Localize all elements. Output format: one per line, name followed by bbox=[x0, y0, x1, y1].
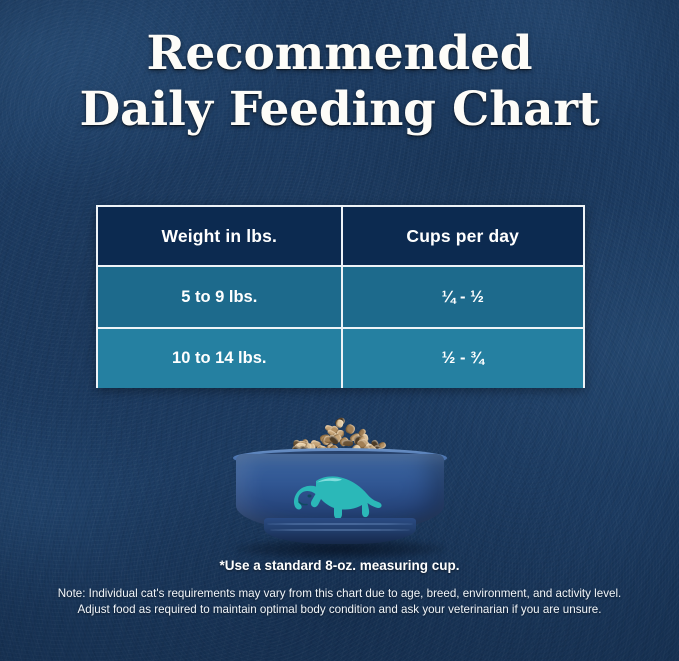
footnotes: *Use a standard 8-oz. measuring cup. Not… bbox=[0, 556, 679, 617]
title-line-1: Recommended bbox=[0, 26, 679, 82]
page-title: Recommended Daily Feeding Chart bbox=[0, 26, 679, 138]
cell-cups-row-2: ½ - ¾ bbox=[341, 329, 584, 388]
cell-cups-row-1: ¼ - ½ bbox=[341, 267, 584, 327]
table-header-row: Weight in lbs. Cups per day bbox=[98, 207, 583, 265]
disclaimer-note: Note: Individual cat's requirements may … bbox=[0, 586, 679, 617]
disclaimer-line-2: Adjust food as required to maintain opti… bbox=[0, 602, 679, 618]
feeding-chart-table: Weight in lbs. Cups per day 5 to 9 lbs. … bbox=[96, 205, 585, 388]
title-line-2: Daily Feeding Chart bbox=[0, 82, 679, 138]
table-header-weight: Weight in lbs. bbox=[98, 207, 341, 265]
bowl-foot-ridge bbox=[267, 523, 413, 525]
cell-weight-row-2: 10 to 14 lbs. bbox=[98, 329, 341, 388]
dog-food-bowl-illustration bbox=[225, 414, 455, 556]
table-row: 10 to 14 lbs. ½ - ¾ bbox=[98, 327, 583, 388]
bowl-foot bbox=[264, 518, 416, 544]
disclaimer-line-1: Note: Individual cat's requirements may … bbox=[0, 586, 679, 602]
table-header-cups: Cups per day bbox=[341, 207, 584, 265]
buffalo-logo-icon bbox=[294, 474, 386, 522]
table-row: 5 to 9 lbs. ¼ - ½ bbox=[98, 265, 583, 327]
measuring-cup-note: *Use a standard 8-oz. measuring cup. bbox=[0, 556, 679, 575]
bowl-foot-ridge bbox=[270, 529, 410, 531]
kibble-piece bbox=[342, 440, 353, 446]
cell-weight-row-1: 5 to 9 lbs. bbox=[98, 267, 341, 327]
